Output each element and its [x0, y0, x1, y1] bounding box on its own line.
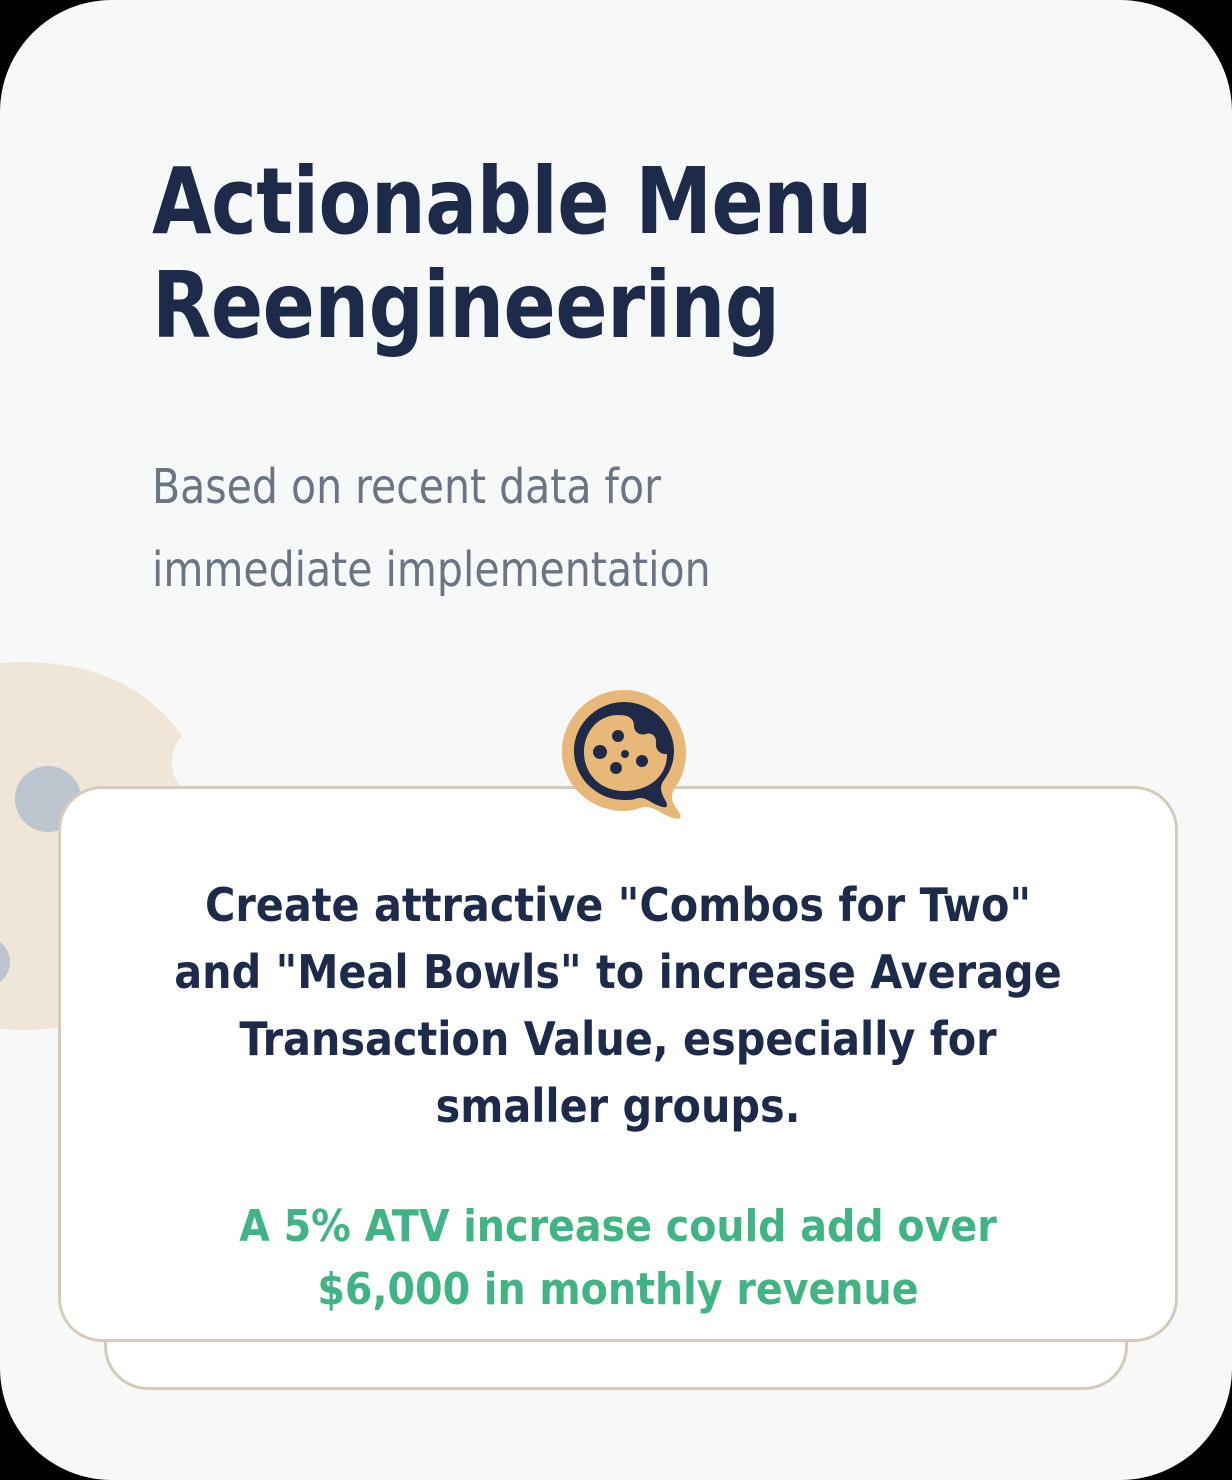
icon-chocolate-chip: [610, 762, 622, 774]
insight-card-page: Actionable Menu Reengineering Based on r…: [0, 0, 1232, 1480]
page-subtitle: Based on recent data for immediate imple…: [152, 446, 874, 611]
cookie-chat-bubble-icon: [558, 688, 696, 820]
deco-chocolate-chip: [0, 937, 10, 987]
icon-chocolate-chip: [593, 745, 607, 759]
impact-estimate-text: A 5% ATV increase could add over $6,000 …: [168, 1141, 1068, 1322]
icon-chocolate-chip: [636, 755, 648, 767]
icon-chocolate-chip: [612, 730, 624, 742]
icon-chocolate-chip: [621, 750, 629, 758]
page-title: Actionable Menu Reengineering: [152, 150, 989, 358]
insight-card-body: Create attractive "Combos for Two" and "…: [58, 872, 1178, 1321]
header: Actionable Menu Reengineering Based on r…: [152, 150, 1052, 358]
recommendation-text: Create attractive "Combos for Two" and "…: [168, 872, 1068, 1141]
